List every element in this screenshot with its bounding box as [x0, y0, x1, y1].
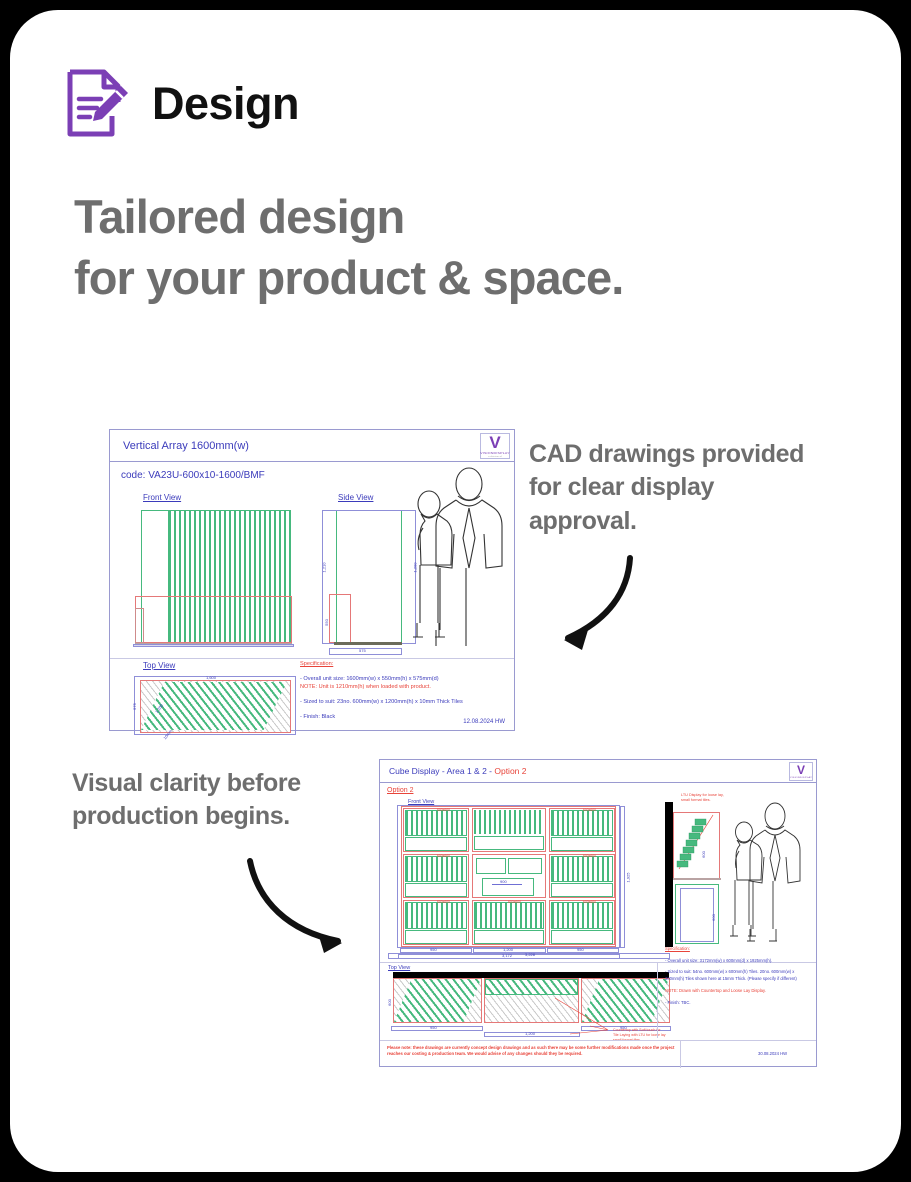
logo-mark: V — [489, 434, 500, 451]
cell-label-2: 600x600 — [583, 808, 596, 813]
dim-top-total: 3,228 — [525, 952, 535, 957]
disclaimer-note: Please note: these drawings are currentl… — [387, 1045, 677, 1058]
dim-front-height: 1,925 — [626, 872, 631, 882]
specification-block-2: Specification: - Overall unit size: 3172… — [665, 946, 807, 1006]
top-view-label: Top View — [143, 661, 175, 670]
callout-cad-drawings: CAD drawings provided for clear display … — [529, 438, 804, 538]
logo-subtext: a division of — [488, 455, 502, 457]
specification-block: Specification: - Overall unit size: 1600… — [300, 660, 506, 721]
spec-line-1: NOTE: Unit is 1210mm(h) when loaded with… — [300, 683, 506, 692]
dim-top-width: 1,600 — [206, 675, 216, 680]
cad-sheet-cube-display[interactable]: Cube Display - Area 1 & 2 - Option 2 V V… — [379, 759, 817, 1067]
sheet-title-2: Cube Display - Area 1 & 2 - Option 2 — [389, 766, 527, 776]
sheet-title: Vertical Array 1600mm(w) — [123, 440, 249, 452]
dim-front-left: 950 — [430, 947, 437, 952]
headline: Tailored design for your product & space… — [74, 186, 623, 308]
dim-side-total-h: 1,210 — [322, 562, 327, 572]
cad-sheet-vertical-array[interactable]: Vertical Array 1600mm(w) V VISIONDISPLAY… — [109, 429, 515, 731]
dim-ltu: 600 — [701, 851, 706, 858]
dim-base: 600 — [711, 914, 716, 921]
dim-front-mid: 1,200 — [503, 947, 513, 952]
front-view-label: Front View — [143, 493, 181, 502]
curved-arrow-down-right-icon — [238, 855, 358, 955]
side-view-label: Side View — [338, 493, 373, 502]
sheet-title-option: Option 2 — [494, 766, 526, 776]
product-code: code: VA23U-600x10-1600/BMF — [121, 470, 265, 481]
cell-label-7: 600x600 — [508, 900, 521, 905]
callout-visual-clarity: Visual clarity before production begins. — [72, 767, 301, 834]
dim-top-mid: 1,200 — [525, 1031, 535, 1036]
option-label-text: Option 2 — [387, 787, 413, 794]
people-scale-figures — [401, 466, 505, 654]
cell-label-3: 600x600 — [437, 854, 450, 859]
spec2-line-2: NOTE: Drawn with Countertop and Loose La… — [665, 988, 807, 995]
sheet-header: Vertical Array 1600mm(w) — [110, 430, 514, 462]
cell-label-0: 600x600 — [437, 808, 450, 813]
logo-mark-2: V — [797, 764, 805, 776]
dim-front-right: 950 — [577, 947, 584, 952]
dim-top-left: 950 — [430, 1025, 437, 1030]
logo-wordmark-2: VISIONDISPLAY — [790, 776, 812, 778]
spec-heading: Specification: — [300, 660, 506, 669]
spec2-line-3: - Finish: TBC. — [665, 1000, 807, 1007]
dim-mid-cell: 900 — [500, 879, 507, 884]
design-card: Design Tailored design for your product … — [10, 10, 901, 1172]
people-scale-figures-2 — [723, 802, 803, 948]
dim-top-depth-2: 600 — [387, 999, 392, 1006]
spec-line-2: - Sized to suit: 23no. 600mm(w) x 1200mm… — [300, 698, 506, 707]
top-view-label-2: Top View — [388, 965, 410, 971]
sheet-date-2: 30.08.2024 HW — [758, 1051, 787, 1056]
logo-wordmark: VISIONDISPLAY — [480, 451, 510, 454]
dim-side-depth: 575 — [359, 648, 366, 653]
cell-label-6: 600x600 — [437, 900, 450, 905]
ltu-display-note: LTU Display for loose lay, small format … — [681, 793, 724, 804]
spec-heading-text: Specification: — [300, 661, 333, 667]
dim-side-unit-h: 550 — [324, 619, 329, 626]
ltu-stair-display — [673, 813, 721, 881]
cell-label-5: 600x600 — [583, 854, 596, 859]
visiondisplay-logo: V VISIONDISPLAY a division of — [480, 433, 510, 459]
sheet-header-2: Cube Display - Area 1 & 2 - Option 2 — [380, 760, 816, 783]
dim-top-depth: 575 — [132, 703, 137, 710]
page-title: Design — [152, 81, 299, 126]
sheet-title-main: Cube Display - Area 1 & 2 - — [389, 766, 494, 776]
spec2-line-1: - Sized to suit: 54no. 600mm(w) x 600mm(… — [665, 969, 807, 982]
spec-line-0: - Overall unit size: 1600mm(w) x 550mm(h… — [300, 675, 506, 684]
sheet-date: 12.08.2024 HW — [463, 719, 505, 725]
curved-arrow-down-left-icon — [542, 550, 652, 660]
document-pencil-icon — [64, 68, 130, 138]
spec-heading-2: Specification: — [665, 946, 690, 951]
brand-row: Design — [64, 68, 299, 138]
visiondisplay-logo-2: V VISIONDISPLAY — [789, 762, 813, 781]
cell-label-8: 600x600 — [583, 900, 596, 905]
spec2-line-0: - Overall unit size: 3172mm(w) x 600mm(d… — [665, 958, 807, 965]
option-label: Option 2 — [387, 786, 413, 796]
